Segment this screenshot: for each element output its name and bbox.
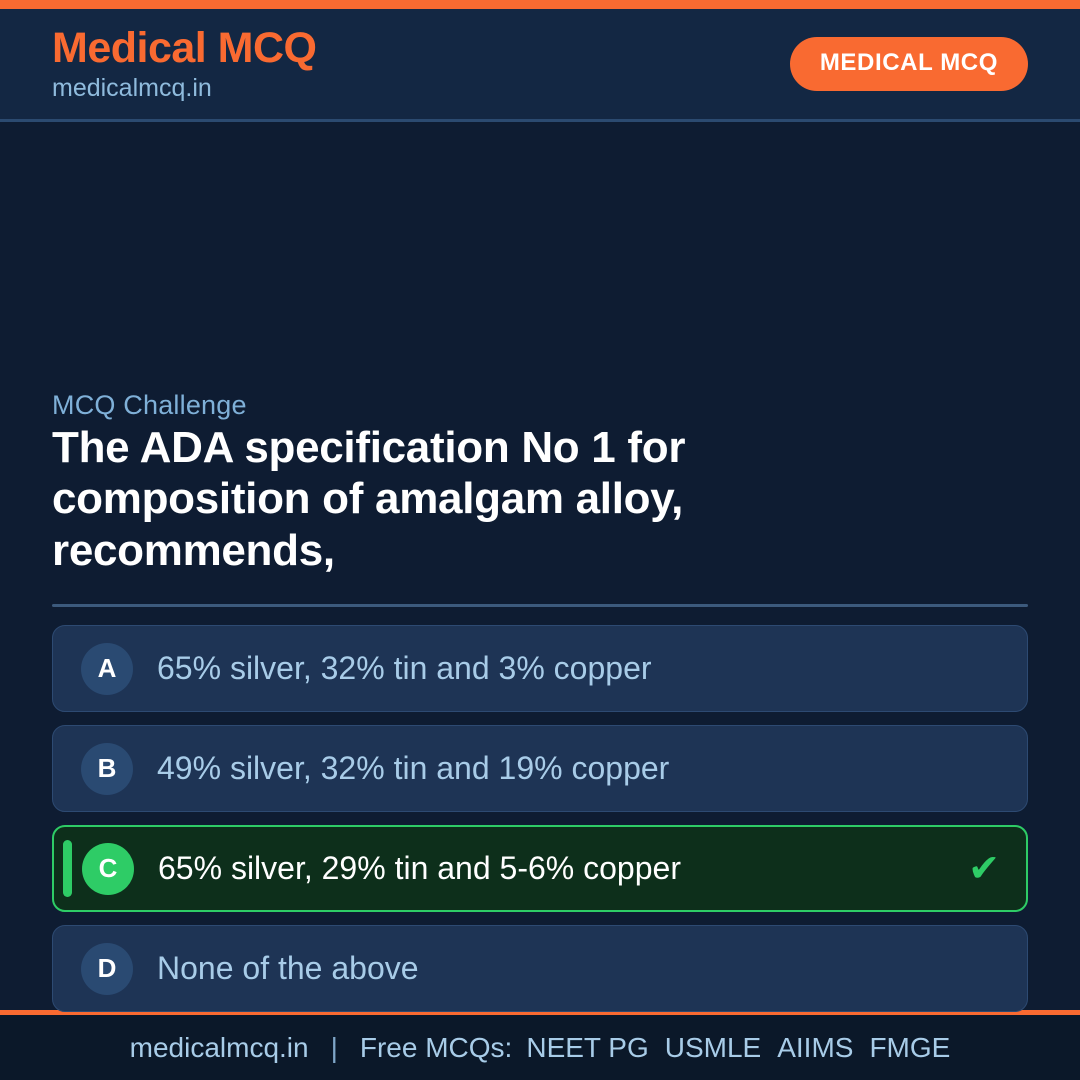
option-row-c[interactable]: C 65% silver, 29% tin and 5-6% copper ✔ [52,825,1028,912]
page-footer: medicalmcq.in | Free MCQs: NEET PG USMLE… [0,1010,1080,1080]
brand-subtitle: medicalmcq.in [52,76,317,101]
option-label-c: 65% silver, 29% tin and 5-6% copper [158,850,681,887]
footer-site: medicalmcq.in [130,1032,309,1064]
check-icon-c: ✔ [968,850,1000,888]
page-header: Medical MCQ medicalmcq.in MEDICAL MCQ [0,9,1080,122]
header-badge: MEDICAL MCQ [790,37,1028,91]
option-letter-badge-a: A [81,643,133,695]
option-letter-badge-c: C [82,843,134,895]
question-text: The ADA specification No 1 for compositi… [52,422,952,576]
poster-root: Medical MCQ medicalmcq.in MEDICAL MCQ MC… [0,0,1080,1080]
option-label-b: 49% silver, 32% tin and 19% copper [157,750,669,787]
option-label-a: 65% silver, 32% tin and 3% copper [157,650,652,687]
option-row-b[interactable]: B 49% silver, 32% tin and 19% copper ✔ [52,725,1028,812]
top-accent-rule [0,0,1080,9]
correct-accent-bar [63,840,72,897]
option-label-d: None of the above [157,950,419,987]
option-letter-badge-b: B [81,743,133,795]
main-content: MCQ Challenge The ADA specification No 1… [0,122,1080,1010]
footer-exam-usmle: USMLE [665,1032,761,1064]
options-list: A 65% silver, 32% tin and 3% copper ✔ B … [52,625,1028,1012]
mcq-challenge-label: MCQ Challenge [52,390,247,421]
brand-block: Medical MCQ medicalmcq.in [52,27,317,101]
footer-exam-fmge: FMGE [869,1032,950,1064]
option-row-a[interactable]: A 65% silver, 32% tin and 3% copper ✔ [52,625,1028,712]
footer-exam-neet-pg: NEET PG [526,1032,648,1064]
question-divider [52,604,1028,607]
footer-label: Free MCQs: [360,1032,512,1064]
footer-separator: | [331,1032,338,1064]
brand-title: Medical MCQ [52,27,317,70]
footer-text-block: medicalmcq.in | Free MCQs: NEET PG USMLE… [130,1032,951,1064]
option-letter-badge-d: D [81,943,133,995]
option-row-d[interactable]: D None of the above ✔ [52,925,1028,1012]
footer-exam-aiims: AIIMS [777,1032,853,1064]
